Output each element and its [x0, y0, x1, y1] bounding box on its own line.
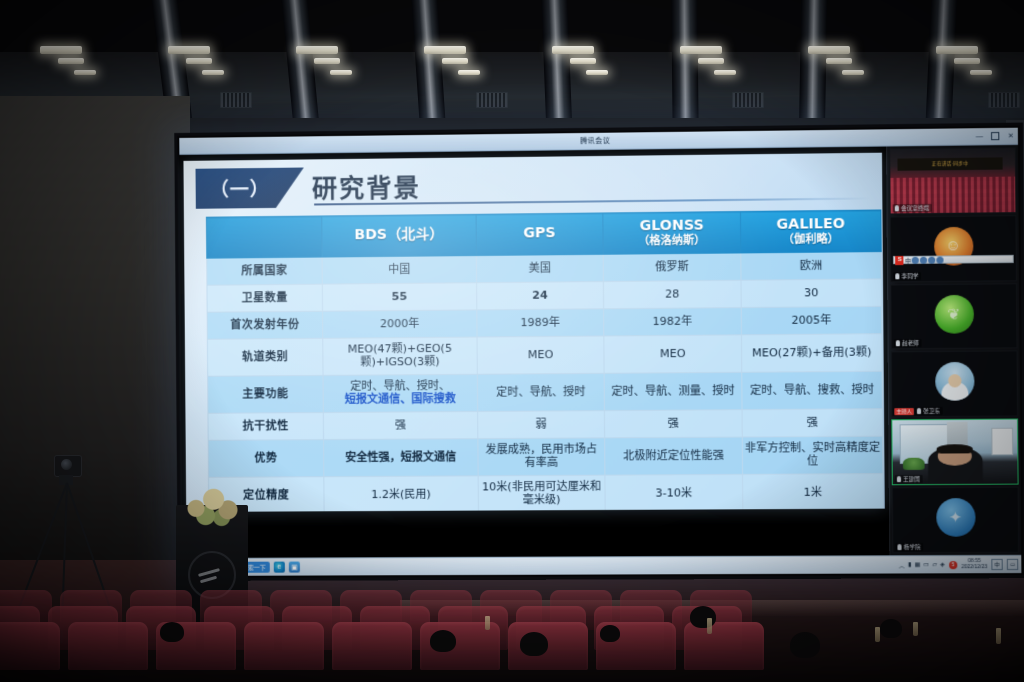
taskbar-clock[interactable]: 08:55 2022/12/23	[961, 559, 987, 570]
row-label-4: 主要功能	[208, 375, 324, 413]
column-header-name: BDS（北斗）	[354, 226, 443, 243]
column-header-name: GPS	[523, 225, 555, 241]
ceiling-light	[698, 58, 724, 64]
ceiling-light	[296, 46, 338, 54]
section-badge-label: （一）	[210, 174, 270, 202]
monitor	[991, 428, 1013, 456]
ceiling-light	[330, 70, 352, 75]
ceiling-light	[186, 58, 212, 64]
cell-bds-0: 中国	[322, 256, 477, 285]
cell-bds-2: 2000年	[323, 310, 478, 338]
cell-gps-2: 1989年	[477, 309, 604, 337]
cell-gps-1: 24	[477, 282, 604, 310]
column-header-glonss: GLONSS（格洛纳斯）	[603, 211, 741, 254]
audience-head	[690, 606, 716, 628]
water-bottle	[875, 627, 880, 642]
row-label-5: 抗干扰性	[208, 413, 324, 441]
participant-strip[interactable]: 正在讲话·同步中会议室终端☺S中李同学❦赵老师主持人张卫东王建国✦杨学院	[886, 145, 1021, 555]
ceiling-light	[74, 70, 96, 75]
column-header-subtitle: （伽利略）	[742, 232, 879, 246]
audience-seating	[0, 596, 1024, 682]
auditorium-seat	[0, 622, 60, 670]
cell-glonss-7: 3-10米	[605, 474, 743, 512]
close-icon[interactable]: ✕	[1008, 132, 1014, 139]
column-header-subtitle: （格洛纳斯）	[605, 234, 740, 248]
cell-galileo-2: 2005年	[741, 306, 882, 335]
system-tray[interactable]: ︿▮▦▭▱◈	[899, 560, 945, 569]
cell-bds-1: 55	[322, 283, 477, 312]
window-title: 腾讯会议	[580, 136, 610, 146]
screen-surface: 腾讯会议 — ✕ （一）	[174, 123, 1024, 581]
cell-bds-7: 1.2米(民用)	[324, 476, 479, 512]
ceiling-light	[842, 70, 864, 75]
cell-glonss-4: 定时、导航、测量、授时	[604, 372, 742, 410]
cell-galileo-1: 30	[741, 279, 882, 308]
cell-gps-3: MEO	[477, 336, 604, 374]
notification-badge[interactable]: 5	[949, 561, 957, 569]
auditorium-seat	[68, 622, 148, 670]
meeting-window: 腾讯会议 — ✕ （一）	[179, 128, 1021, 576]
ceiling-vent	[988, 92, 1020, 108]
minimize-icon[interactable]: —	[976, 133, 983, 140]
ceiling-light	[458, 70, 480, 75]
plant	[903, 457, 926, 470]
cell-bds-5: 强	[323, 411, 478, 439]
tray-icon-1[interactable]: ▮	[908, 561, 911, 568]
cell-glonss-6: 北极附近定位性能强	[605, 437, 743, 475]
avatar	[935, 362, 974, 401]
participant-name-label: 会议室终端	[893, 204, 932, 213]
microphone-icon	[897, 476, 901, 482]
water-bottle	[707, 618, 712, 634]
taskbar-spacer	[304, 565, 895, 567]
host-badge: 主持人	[894, 408, 914, 415]
water-bottle	[485, 616, 490, 630]
auditorium-seat	[244, 622, 324, 670]
microphone-icon	[917, 408, 921, 414]
participant-tile-3[interactable]: 主持人张卫东	[891, 351, 1018, 418]
tray-icon-2[interactable]: ▦	[914, 561, 920, 568]
participant-tile-5[interactable]: ✦杨学院	[892, 487, 1019, 553]
ceiling-light	[714, 70, 736, 75]
slide-title: 研究背景	[312, 168, 421, 205]
water-bottle	[913, 622, 918, 636]
clock-date: 2022/12/23	[961, 565, 987, 570]
table-row: 主要功能定时、导航、授时、短报文通信、国际搜救定时、导航、授时定时、导航、测量、…	[208, 371, 883, 413]
ceiling-vent	[476, 92, 508, 108]
table-row: 优势安全性强，短报文通信发展成熟，民用市场占有率高北极附近定位性能强非军方控制、…	[208, 436, 883, 477]
cell-line-2-highlight: 短报文通信、国际搜救	[326, 393, 475, 407]
cell-glonss-2: 1982年	[604, 308, 742, 336]
lecture-hall-scene: 腾讯会议 — ✕ （一）	[0, 0, 1024, 682]
person-silhouette	[927, 448, 982, 484]
ceiling-light	[202, 70, 224, 75]
participant-name: 杨学院	[904, 543, 921, 551]
tray-icon-4[interactable]: ▱	[932, 561, 937, 568]
cell-gps-6: 发展成熟，民用市场占有率高	[478, 438, 605, 476]
ceiling-light	[442, 58, 468, 64]
show-desktop-icon[interactable]: ▭	[1007, 559, 1018, 570]
input-method-icon[interactable]: 中	[991, 559, 1002, 570]
cell-gps-4: 定时、导航、授时	[477, 373, 604, 411]
microphone-icon	[895, 205, 899, 211]
audience-head	[880, 619, 902, 638]
cell-glonss-5: 强	[604, 410, 742, 438]
participant-name-label: 张卫东	[915, 407, 942, 415]
water-bottle	[996, 628, 1001, 644]
sogou-ime-icon[interactable]: S	[896, 256, 904, 265]
projection-screen: 腾讯会议 — ✕ （一）	[174, 123, 1024, 581]
hair	[937, 444, 973, 453]
participant-tile-4[interactable]: 王建国	[891, 419, 1018, 486]
ceiling-light	[826, 58, 852, 64]
cell-gps-0: 美国	[476, 254, 603, 282]
row-label-6: 优势	[208, 440, 324, 478]
leaf-avatar-icon: ❦	[934, 294, 973, 333]
participant-tile-2[interactable]: ❦赵老师	[890, 283, 1017, 350]
windows-taskbar[interactable]: 诸国队之术小组赛 搜索一下 e ▣ ︿▮▦▭▱◈ 5 08:55 2022/12…	[183, 555, 1022, 576]
ceiling-light	[314, 58, 340, 64]
flower-arrangement	[172, 482, 252, 530]
ceiling-vent	[220, 92, 252, 108]
row-label-3: 轨道类别	[207, 338, 323, 376]
cell-gps-5: 弱	[478, 411, 605, 439]
audience-head	[790, 632, 820, 658]
ceiling-light	[936, 46, 978, 54]
ime-icon[interactable]	[920, 256, 927, 263]
participant-name: 王建国	[903, 475, 920, 483]
table-row: 轨道类别MEO(47颗)+GEO(5颗)+IGSO(3颗)MEOMEOMEO(2…	[207, 334, 882, 377]
cell-galileo-6: 非军方控制、实时高精度定位	[742, 436, 883, 474]
tray-icon-0[interactable]: ︿	[899, 560, 905, 569]
ceiling-light	[424, 46, 466, 54]
cell-galileo-5: 强	[742, 409, 883, 437]
column-header-name: GLONSS	[639, 217, 703, 234]
stage-banner-text: 正在讲话·同步中	[932, 161, 969, 168]
gnss-comparison-table: BDS（北斗）GPSGLONSS（格洛纳斯）GALILEO（伽利略） 所属国家中…	[206, 209, 884, 511]
ime-icon[interactable]	[912, 257, 919, 264]
camera-lens-icon	[61, 459, 72, 470]
cell-glonss-0: 俄罗斯	[603, 253, 741, 282]
ime-mode-label[interactable]: 中	[905, 256, 911, 265]
ime-toolbar[interactable]: S中	[893, 255, 1013, 264]
window-body: （一） 研究背景 BDS（北斗）GPSGLONSS（格洛纳斯）GALILEO（伽…	[179, 145, 1021, 558]
table-corner-cell	[206, 216, 322, 258]
table-body: 所属国家中国美国俄罗斯欧洲卫星数量55242830首次发射年份2000年1989…	[207, 252, 884, 512]
microphone-icon	[896, 341, 900, 347]
cell-galileo-4: 定时、导航、搜救、授时	[742, 371, 883, 409]
cell-gps-7: 10米(非民用可达厘米和毫米级)	[478, 475, 605, 512]
window-controls: — ✕	[976, 128, 1014, 145]
row-label-1: 卫星数量	[207, 284, 323, 312]
ceiling-light	[168, 46, 210, 54]
ceiling-vent	[732, 92, 764, 108]
globe-avatar-icon: ✦	[936, 498, 975, 537]
auditorium-seat	[332, 622, 412, 670]
cell-glonss-3: MEO	[604, 335, 742, 373]
ceiling-light	[680, 46, 722, 54]
table-row: 定位精度1.2米(民用)10米(非民用可达厘米和毫米级)3-10米1米	[208, 474, 883, 512]
audience-head	[600, 625, 620, 642]
auditorium-seat	[684, 622, 764, 670]
cell-bds-4: 定时、导航、授时、短报文通信、国际搜救	[323, 374, 478, 412]
audience-head	[160, 622, 184, 642]
tray-icon-3[interactable]: ▭	[923, 561, 929, 568]
ime-icon[interactable]	[929, 256, 936, 263]
avatar: ❦	[934, 294, 973, 333]
cell-galileo-0: 欧洲	[741, 252, 882, 281]
presentation-slide: （一） 研究背景 BDS（北斗）GPSGLONSS（格洛纳斯）GALILEO（伽…	[183, 153, 884, 512]
participant-name: 李同学	[901, 272, 918, 280]
participant-name: 会议室终端	[901, 204, 929, 212]
ceiling-light	[552, 46, 594, 54]
avatar: ✦	[936, 498, 975, 537]
ceiling-light	[954, 58, 980, 64]
row-label-2: 首次发射年份	[207, 311, 323, 339]
ceiling-light	[586, 70, 608, 75]
participant-name-label: 王建国	[895, 475, 922, 483]
ceiling-light	[808, 46, 850, 54]
shared-screen-stage: （一） 研究背景 BDS（北斗）GPSGLONSS（格洛纳斯）GALILEO（伽…	[179, 147, 889, 558]
meeting-app-icon[interactable]: ▣	[289, 562, 300, 573]
table-header-row: BDS（北斗）GPSGLONSS（格洛纳斯）GALILEO（伽利略）	[206, 210, 881, 258]
avatar-head	[948, 374, 962, 387]
table-head: BDS（北斗）GPSGLONSS（格洛纳斯）GALILEO（伽利略）	[206, 210, 881, 258]
ceiling-light	[40, 46, 82, 54]
ceiling-light	[970, 70, 992, 75]
microphone-icon	[895, 273, 899, 279]
column-header-gps: GPS	[476, 213, 603, 256]
cell-glonss-1: 28	[603, 280, 741, 309]
cell-galileo-8: 12年	[743, 511, 884, 512]
participant-name: 赵老师	[902, 339, 919, 347]
ceiling-light	[570, 58, 596, 64]
cell-bds-6: 安全性强，短报文通信	[324, 439, 479, 477]
column-header-galileo: GALILEO（伽利略）	[740, 210, 881, 253]
edge-browser-icon[interactable]: e	[274, 562, 285, 573]
participant-name-label: 李同学	[893, 272, 920, 280]
cell-bds-3: MEO(47颗)+GEO(5颗)+IGSO(3颗)	[323, 337, 478, 375]
cell-galileo-7: 1米	[743, 474, 884, 512]
cell-galileo-3: MEO(27颗)+备用(3颗)	[741, 334, 882, 373]
section-badge: （一）	[196, 168, 305, 209]
participant-name-label: 杨学院	[895, 543, 922, 551]
audience-head	[520, 632, 548, 656]
ime-icon[interactable]	[937, 256, 944, 263]
stage-banner: 正在讲话·同步中	[898, 157, 1003, 171]
audience-head	[430, 630, 456, 652]
ceiling-light	[58, 58, 84, 64]
column-header-bds: BDS（北斗）	[322, 214, 477, 257]
participant-tile-1[interactable]: ☺S中李同学	[890, 215, 1017, 282]
row-label-0: 所属国家	[207, 257, 323, 285]
participant-name-label: 赵老师	[894, 339, 921, 347]
column-header-name: GALILEO	[776, 216, 845, 233]
microphone-icon	[897, 544, 901, 550]
participant-name: 张卫东	[923, 407, 940, 415]
participant-tile-0[interactable]: 正在讲话·同步中会议室终端	[889, 147, 1016, 214]
maximize-icon[interactable]	[991, 132, 999, 140]
tray-icon-5[interactable]: ◈	[940, 561, 945, 568]
table-row: 抗干扰性强弱强强	[208, 409, 883, 441]
